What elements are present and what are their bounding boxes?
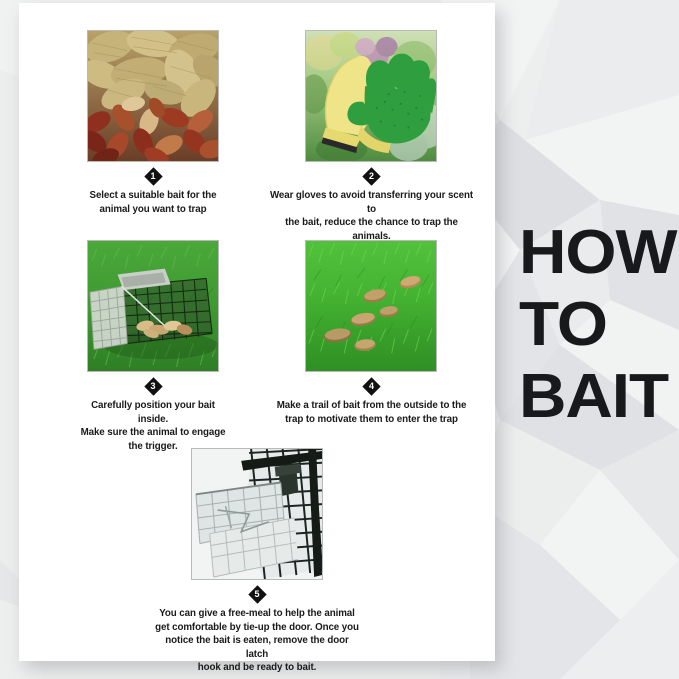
- step-5-image: [191, 448, 323, 580]
- step-1-number: 1: [146, 169, 161, 184]
- step-item-2: 2 Wear gloves to avoid transferring your…: [259, 30, 484, 243]
- step-2-image: [305, 30, 437, 162]
- title-line-3: BAIT: [519, 361, 676, 433]
- step-5-caption: You can give a free-meal to help the ani…: [155, 607, 360, 675]
- step-2-number: 2: [364, 169, 379, 184]
- step-4-caption: Make a trail of bait from the outside to…: [267, 399, 476, 426]
- step-1-caption: Select a suitable bait for the animal yo…: [75, 189, 231, 216]
- step-item-1: 1 Select a suitable bait for the animal …: [69, 30, 237, 216]
- step-3-caption: Carefully position your bait inside. Mak…: [75, 399, 231, 453]
- title-line-2: TO: [519, 289, 676, 361]
- step-4-number: 4: [364, 379, 379, 394]
- title-line-1: HOW: [519, 217, 676, 289]
- step-5-number-badge: 5: [147, 585, 367, 605]
- poster-title: HOW TO BAIT: [519, 217, 668, 433]
- step-5-number: 5: [250, 587, 265, 602]
- step-4-number-badge: 4: [259, 377, 484, 397]
- step-item-4: 4 Make a trail of bait from the outside …: [259, 240, 484, 426]
- step-1-image: [87, 30, 219, 162]
- step-item-3: 3 Carefully position your bait inside. M…: [69, 240, 237, 453]
- step-1-number-badge: 1: [69, 167, 237, 187]
- poster-card: 1 Select a suitable bait for the animal …: [19, 3, 495, 661]
- step-3-number-badge: 3: [69, 377, 237, 397]
- step-4-image: [305, 240, 437, 372]
- steps-grid: 1 Select a suitable bait for the animal …: [19, 3, 495, 661]
- step-item-5: 5 You can give a free-meal to help the a…: [147, 448, 367, 675]
- step-2-caption: Wear gloves to avoid transferring your s…: [267, 189, 476, 243]
- step-2-number-badge: 2: [259, 167, 484, 187]
- step-3-image: [87, 240, 219, 372]
- step-3-number: 3: [146, 379, 161, 394]
